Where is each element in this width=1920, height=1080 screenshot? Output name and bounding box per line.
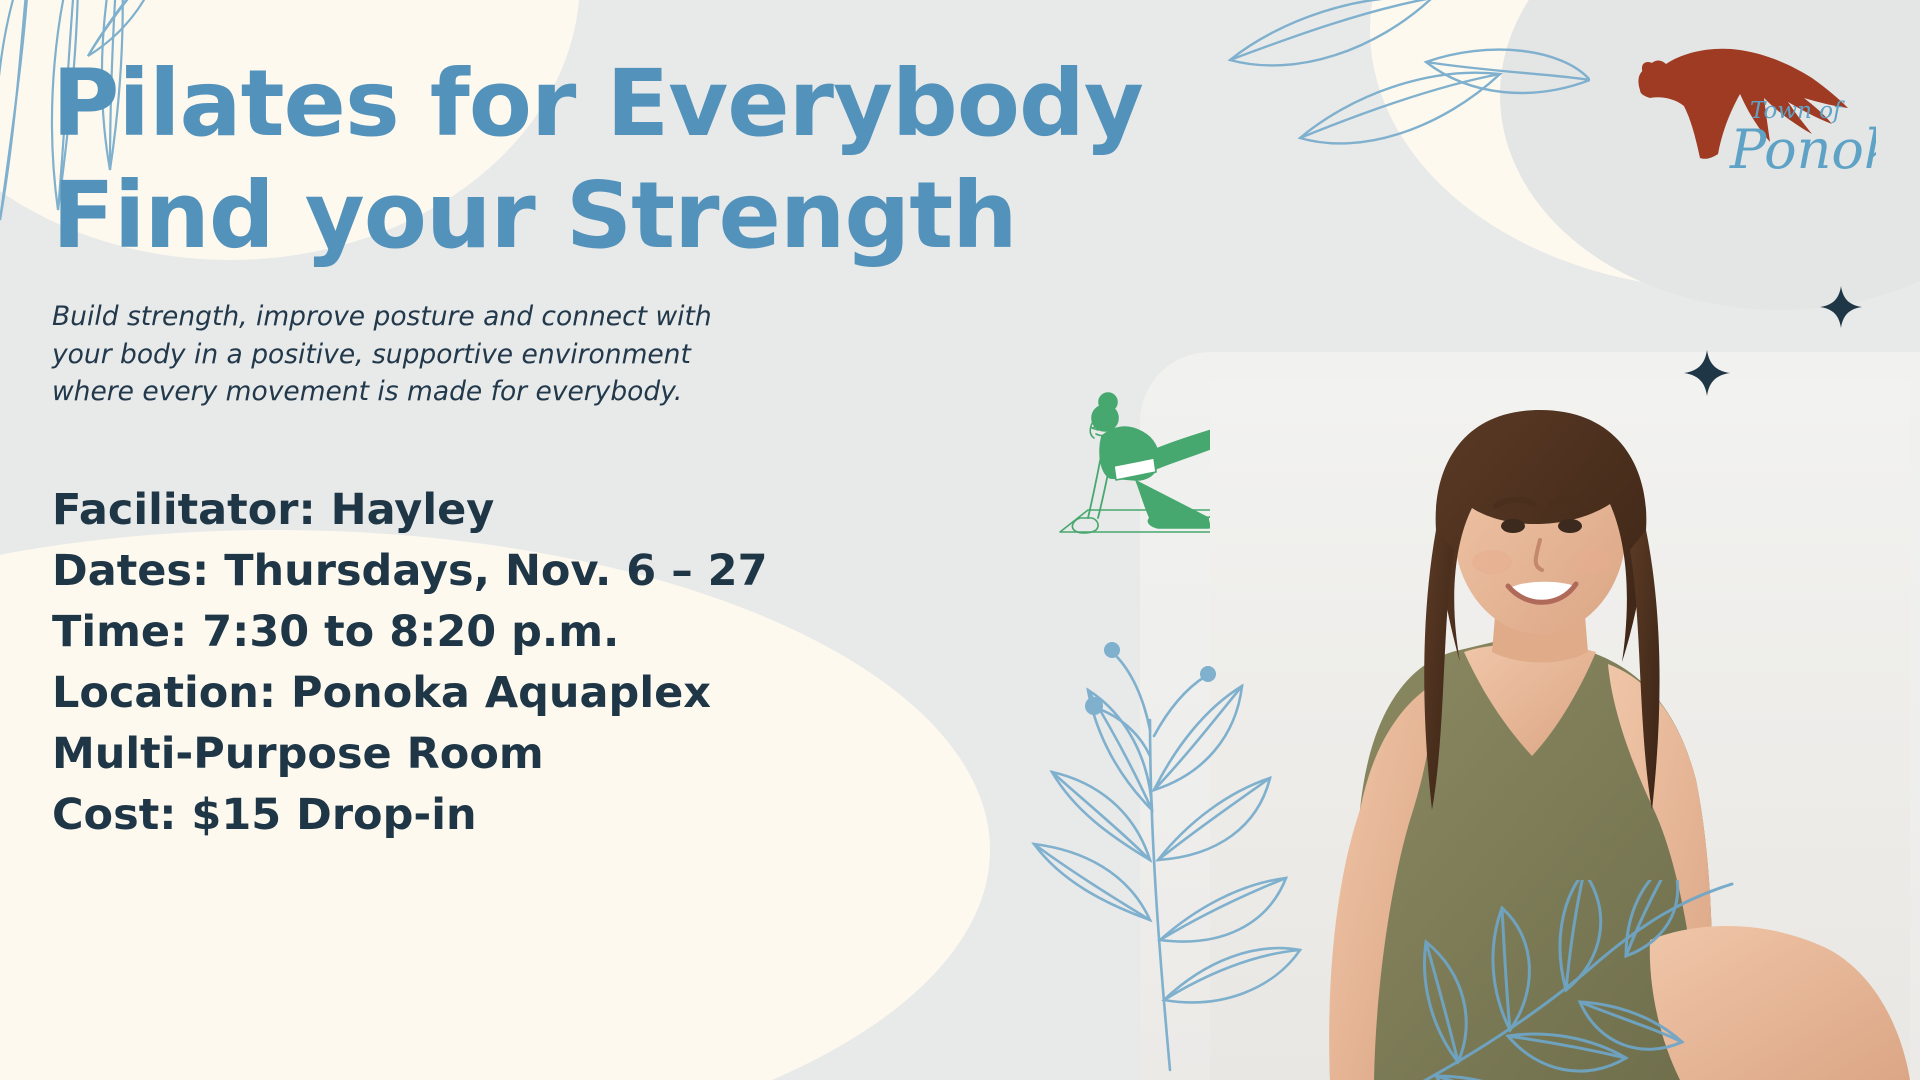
sparkle-icon-2 [1820,286,1862,328]
detail-location: Location: Ponoka Aquaplex [52,663,872,724]
logo-wordmark: Town of Ponoka [1729,98,1876,176]
detail-time: Time: 7:30 to 8:20 p.m. [52,602,872,663]
instructor-photo [1210,380,1910,1080]
detail-facilitator: Facilitator: Hayley [52,480,872,541]
detail-dates: Dates: Thursdays, Nov. 6 – 27 [52,541,872,602]
town-of-ponoka-logo: Town of Ponoka [1626,36,1876,176]
headline-line-2: Find your Strength [52,160,1192,272]
subtitle-line-1: Build strength, improve posture and conn… [52,298,752,336]
logo-name: Ponoka [1729,118,1876,176]
poster-subtitle: Build strength, improve posture and conn… [52,298,752,411]
poster-canvas: Pilates for Everybody Find your Strength… [0,0,1920,1080]
class-details: Facilitator: Hayley Dates: Thursdays, No… [52,480,872,846]
page-title: Pilates for Everybody Find your Strength [52,48,1192,272]
detail-room: Multi-Purpose Room [52,724,872,785]
subtitle-line-2: your body in a positive, supportive envi… [52,336,752,374]
subtitle-line-3: where every movement is made for everybo… [52,373,752,411]
headline-line-1: Pilates for Everybody [52,50,1143,157]
sparkle-icon-1 [1684,350,1730,396]
detail-cost: Cost: $15 Drop-in [52,785,872,846]
